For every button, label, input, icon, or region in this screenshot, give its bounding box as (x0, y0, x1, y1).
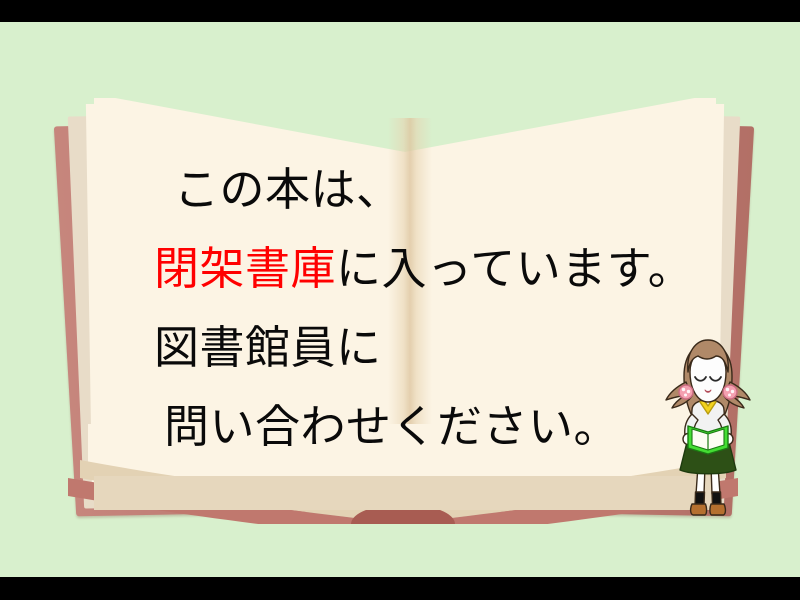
open-book-illustration: この本は、 閉架書庫に入っています。 図書館員に 問い合わせください。 (58, 72, 748, 522)
notice-line-2: 閉架書庫に入っています。 (154, 229, 754, 308)
shoe-left-icon (691, 504, 707, 515)
letterbox-bottom (0, 577, 800, 600)
page-bottom-band (94, 476, 716, 510)
closed-stacks-highlight: 閉架書庫 (154, 243, 336, 294)
notice-line-1: この本は、 (154, 150, 754, 229)
slide-canvas: この本は、 閉架書庫に入っています。 図書館員に 問い合わせください。 (0, 0, 800, 600)
hair-tie-left-icon (679, 385, 693, 399)
girl-reading-illustration (648, 334, 768, 524)
hair-tie-right-icon (723, 385, 737, 399)
slide-background: この本は、 閉架書庫に入っています。 図書館員に 問い合わせください。 (0, 22, 800, 577)
notice-line-2-rest: に入っています。 (336, 243, 693, 294)
letterbox-top (0, 0, 800, 22)
shoe-right-icon (710, 504, 726, 515)
